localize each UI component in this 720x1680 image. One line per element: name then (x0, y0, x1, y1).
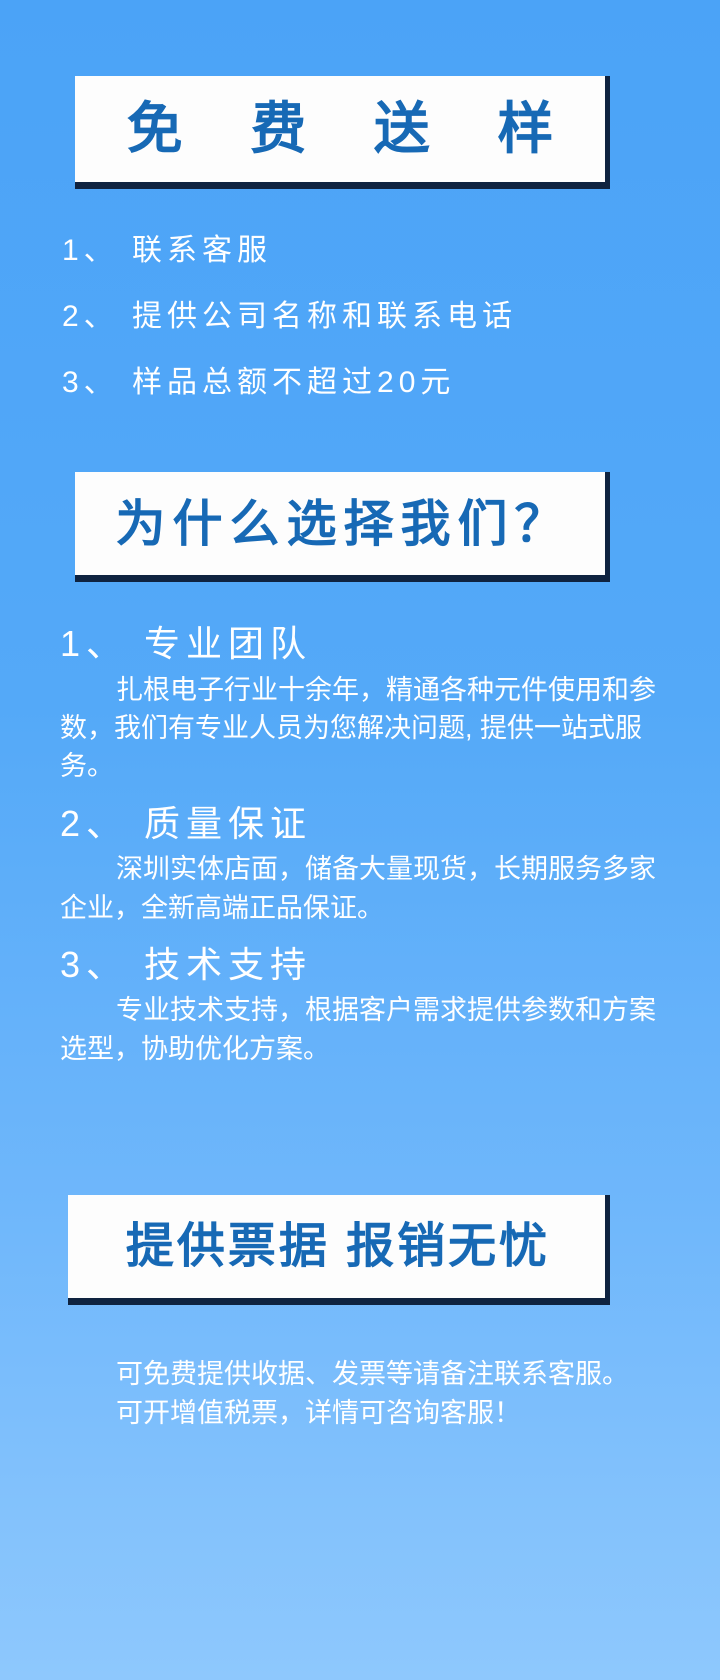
reason-body: 深圳实体店面，储备大量现货，长期服务多家企业，全新高端正品保证。 (60, 850, 680, 927)
banner-why-us: 为什么选择我们？ (75, 472, 610, 582)
banner-free-sample-text: 免 费 送 样 (101, 101, 580, 157)
reason-item: 3、 技术支持 专业技术支持，根据客户需求提供参数和方案选型，协助优化方案。 (60, 941, 710, 1068)
promo-poster: 免 费 送 样 1、 联系客服 2、 提供公司名称和联系电话 3、 样品总额不超… (0, 0, 720, 1680)
step-item: 1、 联系客服 (62, 236, 682, 266)
banner-invoice-text: 提供票据 报销无忧 (123, 1223, 550, 1271)
reasons-list: 1、 专业团队 扎根电子行业十余年，精通各种元件使用和参数，我们有专业人员为您解… (60, 620, 710, 1082)
step-item: 2、 提供公司名称和联系电话 (62, 302, 682, 332)
reason-item: 1、 专业团队 扎根电子行业十余年，精通各种元件使用和参数，我们有专业人员为您解… (60, 620, 710, 786)
reason-item: 2、 质量保证 深圳实体店面，储备大量现货，长期服务多家企业，全新高端正品保证。 (60, 800, 710, 927)
reason-title: 3、 技术支持 (60, 941, 710, 990)
step-item: 3、 样品总额不超过20元 (62, 368, 682, 398)
reason-body: 扎根电子行业十余年，精通各种元件使用和参数，我们有专业人员为您解决问题, 提供一… (60, 671, 680, 786)
banner-why-us-text: 为什么选择我们？ (109, 499, 572, 549)
reason-title: 1、 专业团队 (60, 620, 710, 669)
free-sample-steps: 1、 联系客服 2、 提供公司名称和联系电话 3、 样品总额不超过20元 (62, 236, 682, 434)
invoice-note-line: 可免费提供收据、发票等请备注联系客服。 (60, 1355, 685, 1394)
banner-free-sample: 免 费 送 样 (75, 76, 610, 189)
banner-invoice: 提供票据 报销无忧 (68, 1195, 610, 1305)
invoice-note-line: 可开增值税票，详情可咨询客服！ (60, 1394, 685, 1433)
invoice-notes: 可免费提供收据、发票等请备注联系客服。 可开增值税票，详情可咨询客服！ (60, 1355, 700, 1433)
reason-body: 专业技术支持，根据客户需求提供参数和方案选型，协助优化方案。 (60, 991, 680, 1068)
reason-title: 2、 质量保证 (60, 800, 710, 849)
